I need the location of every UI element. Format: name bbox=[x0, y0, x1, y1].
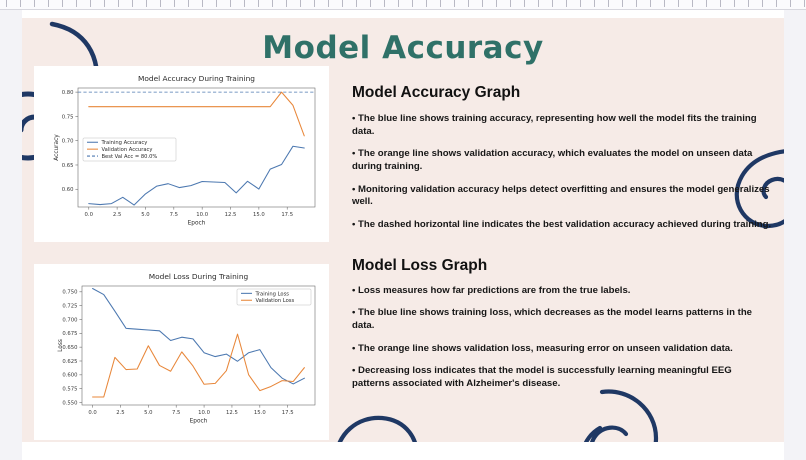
canvas-gutter-right bbox=[784, 10, 806, 460]
bullet-accuracy-2: • The orange line shows validation accur… bbox=[352, 148, 772, 173]
svg-text:Model Accuracy During Training: Model Accuracy During Training bbox=[138, 74, 255, 83]
svg-text:2.5: 2.5 bbox=[113, 212, 121, 218]
svg-text:0.700: 0.700 bbox=[62, 317, 78, 323]
svg-text:12.5: 12.5 bbox=[226, 410, 238, 416]
svg-text:0.600: 0.600 bbox=[62, 373, 78, 379]
section-model-loss-graph: Model Loss Graph • Loss measures how far… bbox=[352, 257, 772, 391]
ruler bbox=[0, 0, 806, 10]
svg-text:0.650: 0.650 bbox=[62, 345, 78, 351]
svg-text:0.750: 0.750 bbox=[62, 290, 78, 296]
svg-text:0.625: 0.625 bbox=[62, 359, 77, 365]
svg-text:Accuracy: Accuracy bbox=[54, 134, 60, 161]
svg-text:0.550: 0.550 bbox=[62, 400, 78, 406]
svg-text:0.65: 0.65 bbox=[62, 163, 74, 169]
svg-text:7.5: 7.5 bbox=[170, 212, 178, 218]
svg-text:17.5: 17.5 bbox=[282, 410, 294, 416]
svg-text:Training Accuracy: Training Accuracy bbox=[101, 140, 148, 146]
slide-canvas: Model Accuracy Model Accuracy During Tra… bbox=[22, 18, 784, 442]
bullet-loss-4: • Decreasing loss indicates that the mod… bbox=[352, 365, 772, 390]
svg-text:5.0: 5.0 bbox=[141, 212, 150, 218]
svg-text:0.60: 0.60 bbox=[62, 187, 74, 193]
svg-text:0.725: 0.725 bbox=[62, 304, 77, 310]
bullet-loss-3: • The orange line shows validation loss,… bbox=[352, 343, 772, 356]
chart-loss: Model Loss During Training0.5500.5750.60… bbox=[34, 264, 329, 440]
svg-text:0.75: 0.75 bbox=[62, 114, 74, 120]
bullet-loss-2: • The blue line shows training loss, whi… bbox=[352, 307, 772, 332]
section-model-accuracy-graph: Model Accuracy Graph • The blue line sho… bbox=[352, 84, 772, 232]
svg-text:12.5: 12.5 bbox=[225, 212, 237, 218]
explanation-column: Model Accuracy Graph • The blue line sho… bbox=[352, 84, 772, 401]
svg-text:Epoch: Epoch bbox=[188, 221, 206, 227]
svg-text:10.0: 10.0 bbox=[198, 410, 210, 416]
svg-text:2.5: 2.5 bbox=[116, 410, 124, 416]
svg-text:0.80: 0.80 bbox=[62, 90, 74, 96]
svg-text:Best Val Acc = 80.0%: Best Val Acc = 80.0% bbox=[102, 154, 158, 160]
svg-text:15.0: 15.0 bbox=[254, 410, 266, 416]
svg-text:0.70: 0.70 bbox=[62, 139, 74, 145]
svg-text:Loss: Loss bbox=[58, 339, 64, 352]
svg-text:Validation Loss: Validation Loss bbox=[256, 298, 295, 304]
decorative-swirl-bottom-center bbox=[322, 398, 442, 442]
bullet-accuracy-4: • The dashed horizontal line indicates t… bbox=[352, 219, 772, 232]
svg-text:0.0: 0.0 bbox=[88, 410, 97, 416]
chart-accuracy: Model Accuracy During Training0.600.650.… bbox=[34, 66, 329, 242]
svg-text:0.675: 0.675 bbox=[62, 331, 77, 337]
page-title: Model Accuracy bbox=[22, 30, 784, 66]
bullet-accuracy-1: • The blue line shows training accuracy,… bbox=[352, 113, 772, 138]
svg-text:Model Loss During Training: Model Loss During Training bbox=[149, 272, 249, 281]
section-heading-loss: Model Loss Graph bbox=[352, 257, 772, 275]
canvas-gutter-left bbox=[0, 10, 22, 460]
svg-text:7.5: 7.5 bbox=[172, 410, 180, 416]
svg-text:Training Loss: Training Loss bbox=[255, 291, 290, 297]
svg-text:10.0: 10.0 bbox=[196, 212, 208, 218]
bullet-accuracy-3: • Monitoring validation accuracy helps d… bbox=[352, 184, 772, 209]
section-heading-accuracy: Model Accuracy Graph bbox=[352, 84, 772, 102]
svg-text:17.5: 17.5 bbox=[281, 212, 293, 218]
svg-text:Validation Accuracy: Validation Accuracy bbox=[102, 147, 153, 153]
svg-text:15.0: 15.0 bbox=[253, 212, 265, 218]
bullet-loss-1: • Loss measures how far predictions are … bbox=[352, 285, 772, 298]
svg-text:Epoch: Epoch bbox=[190, 419, 208, 425]
svg-text:0.0: 0.0 bbox=[85, 212, 94, 218]
svg-text:0.575: 0.575 bbox=[62, 387, 77, 393]
svg-text:5.0: 5.0 bbox=[144, 410, 153, 416]
